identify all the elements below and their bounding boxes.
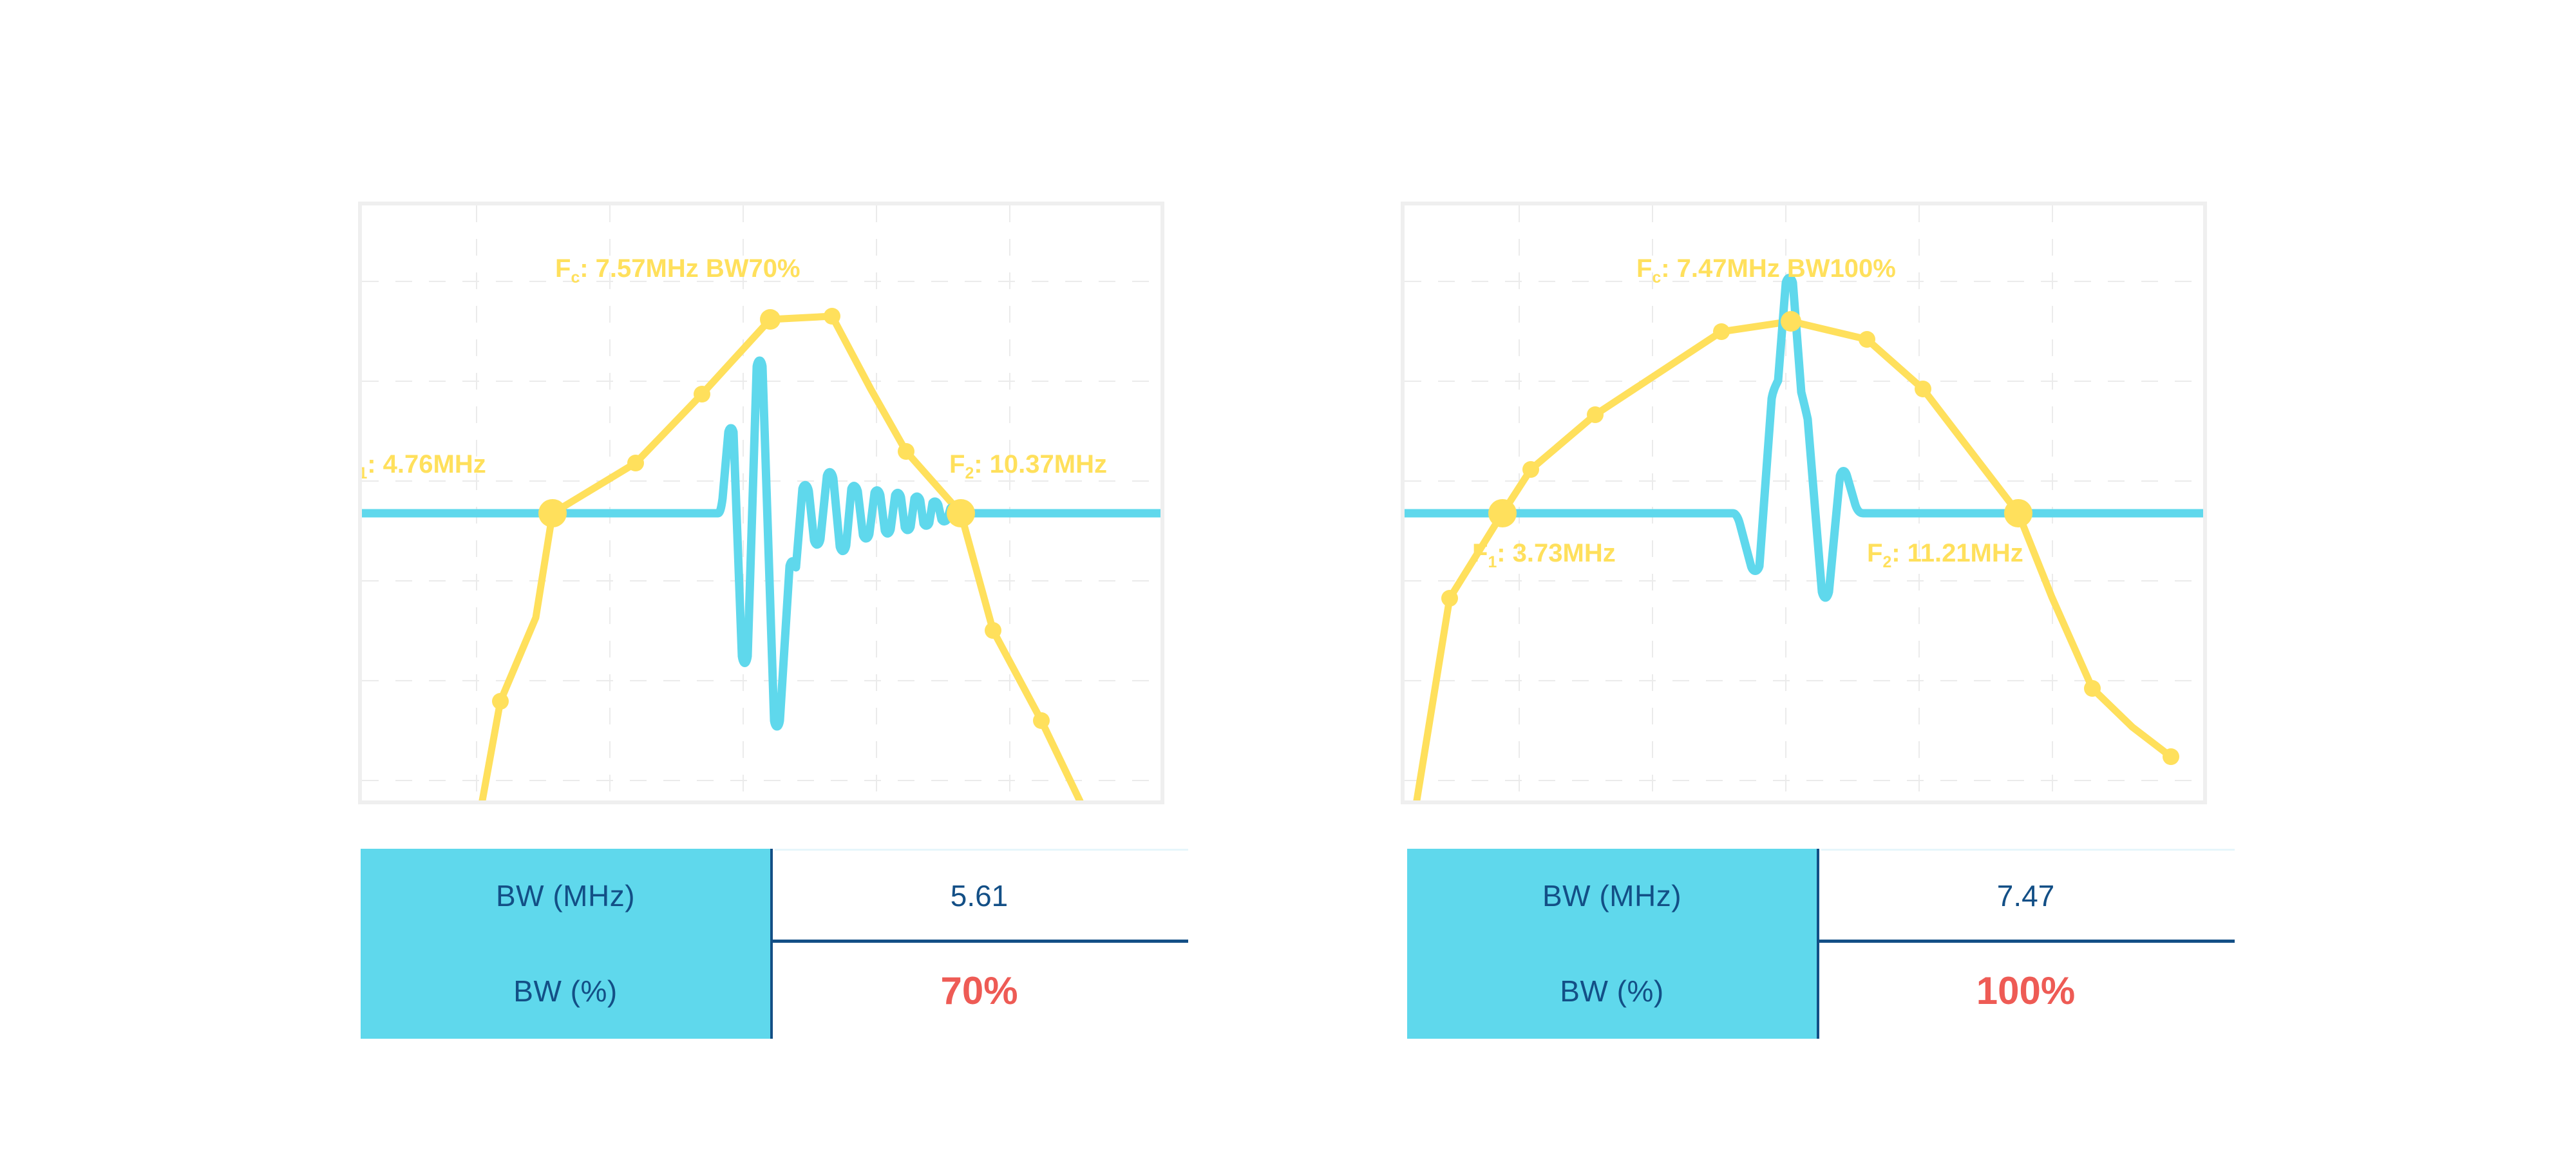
data-point xyxy=(1441,590,1458,607)
data-point xyxy=(492,693,509,710)
data-point xyxy=(1033,712,1050,729)
pulse-waveform-left xyxy=(362,361,1160,726)
annotation-center-rest: : 7.57MHz BW70% xyxy=(580,254,800,283)
annotation-f2-symbol: F xyxy=(1867,539,1882,567)
screenshot-root: Fc: 7.57MHz BW70% F1: 4.76MHz F2: 10.37M… xyxy=(0,0,2576,1154)
table-top-rule-right xyxy=(1821,849,2235,851)
row-header-bw-mhz: BW (MHz) xyxy=(361,849,773,943)
annotation-f2-subscript: 2 xyxy=(1882,554,1891,571)
data-point xyxy=(1713,323,1730,340)
data-point-f2 xyxy=(947,499,975,527)
chart-svg-right xyxy=(1405,205,2203,800)
table-top-rule-left xyxy=(775,849,1188,851)
annotation-f2-symbol: F xyxy=(949,450,965,478)
data-point xyxy=(1522,461,1539,478)
annotation-f1-left: F1: 4.76MHz xyxy=(362,450,486,483)
data-point xyxy=(1915,381,1931,397)
annotation-center-left: Fc: 7.57MHz BW70% xyxy=(555,254,800,287)
annotation-f1-right: F1: 3.73MHz xyxy=(1472,539,1616,572)
plot-area-right: Fc: 7.47MHz BW100% F1: 3.73MHz F2: 11.21… xyxy=(1405,205,2203,800)
data-point-f2 xyxy=(2004,499,2032,527)
annotation-f1-symbol: F xyxy=(1472,539,1488,567)
annotation-f1-subscript: 1 xyxy=(1488,554,1497,571)
annotation-f1-rest: : 4.76MHz xyxy=(367,450,486,478)
table-row: BW (MHz) 7.47 xyxy=(1407,849,2235,943)
bw-table-left: BW (MHz) 5.61 BW (%) 70% xyxy=(361,849,1188,1042)
bw-table-right: BW (MHz) 7.47 BW (%) 100% xyxy=(1407,849,2235,1042)
row-value-bw-pct: 100% xyxy=(1819,943,2232,1039)
grid-lines-left xyxy=(362,205,1160,800)
plot-area-left: Fc: 7.57MHz BW70% F1: 4.76MHz F2: 10.37M… xyxy=(362,205,1160,800)
data-point-fc xyxy=(1781,311,1801,332)
table-row: BW (MHz) 5.61 xyxy=(361,849,1188,943)
annotation-center-symbol: F xyxy=(1636,254,1652,283)
annotation-center-symbol: F xyxy=(555,254,571,283)
data-point xyxy=(824,308,840,325)
row-value-bw-pct: 70% xyxy=(773,943,1186,1039)
data-point-f1 xyxy=(538,499,567,527)
grid-lines-right xyxy=(1405,205,2203,800)
spectrum-markers-right xyxy=(1441,311,2179,765)
table-row: BW (%) 70% xyxy=(361,943,1188,1039)
data-point xyxy=(898,443,914,460)
annotation-center-right: Fc: 7.47MHz BW100% xyxy=(1636,254,1896,287)
annotation-f1-rest: : 3.73MHz xyxy=(1497,539,1616,567)
annotation-center-subscript: c xyxy=(1652,269,1661,287)
annotation-f2-subscript: 2 xyxy=(965,465,974,482)
annotation-center-subscript: c xyxy=(571,269,580,287)
row-value-bw-mhz: 5.61 xyxy=(773,849,1186,943)
annotation-center-rest: : 7.47MHz BW100% xyxy=(1661,254,1896,283)
chart-svg-left xyxy=(362,205,1160,800)
data-point xyxy=(1587,406,1604,423)
data-point-fc xyxy=(760,309,781,330)
spectrum-panel-right: Fc: 7.47MHz BW100% F1: 3.73MHz F2: 11.21… xyxy=(1401,202,2207,804)
row-value-bw-mhz: 7.47 xyxy=(1819,849,2232,943)
data-point xyxy=(985,622,1001,639)
annotation-f2-right: F2: 11.21MHz xyxy=(1867,539,2023,572)
annotation-f2-left: F2: 10.37MHz xyxy=(949,450,1107,483)
data-point xyxy=(2163,748,2179,765)
spectrum-panel-left: Fc: 7.57MHz BW70% F1: 4.76MHz F2: 10.37M… xyxy=(358,202,1164,804)
annotation-f1-subscript: 1 xyxy=(362,465,367,482)
data-point xyxy=(2084,680,2101,697)
annotation-f2-rest: : 11.21MHz xyxy=(1891,539,2023,567)
row-header-bw-mhz: BW (MHz) xyxy=(1407,849,1819,943)
data-point-f1 xyxy=(1488,499,1517,527)
annotation-f2-rest: : 10.37MHz xyxy=(974,450,1107,478)
data-point xyxy=(1859,331,1875,348)
table-row: BW (%) 100% xyxy=(1407,943,2235,1039)
row-header-bw-pct: BW (%) xyxy=(1407,943,1819,1039)
data-point xyxy=(694,386,710,402)
data-point xyxy=(627,455,644,471)
row-header-bw-pct: BW (%) xyxy=(361,943,773,1039)
